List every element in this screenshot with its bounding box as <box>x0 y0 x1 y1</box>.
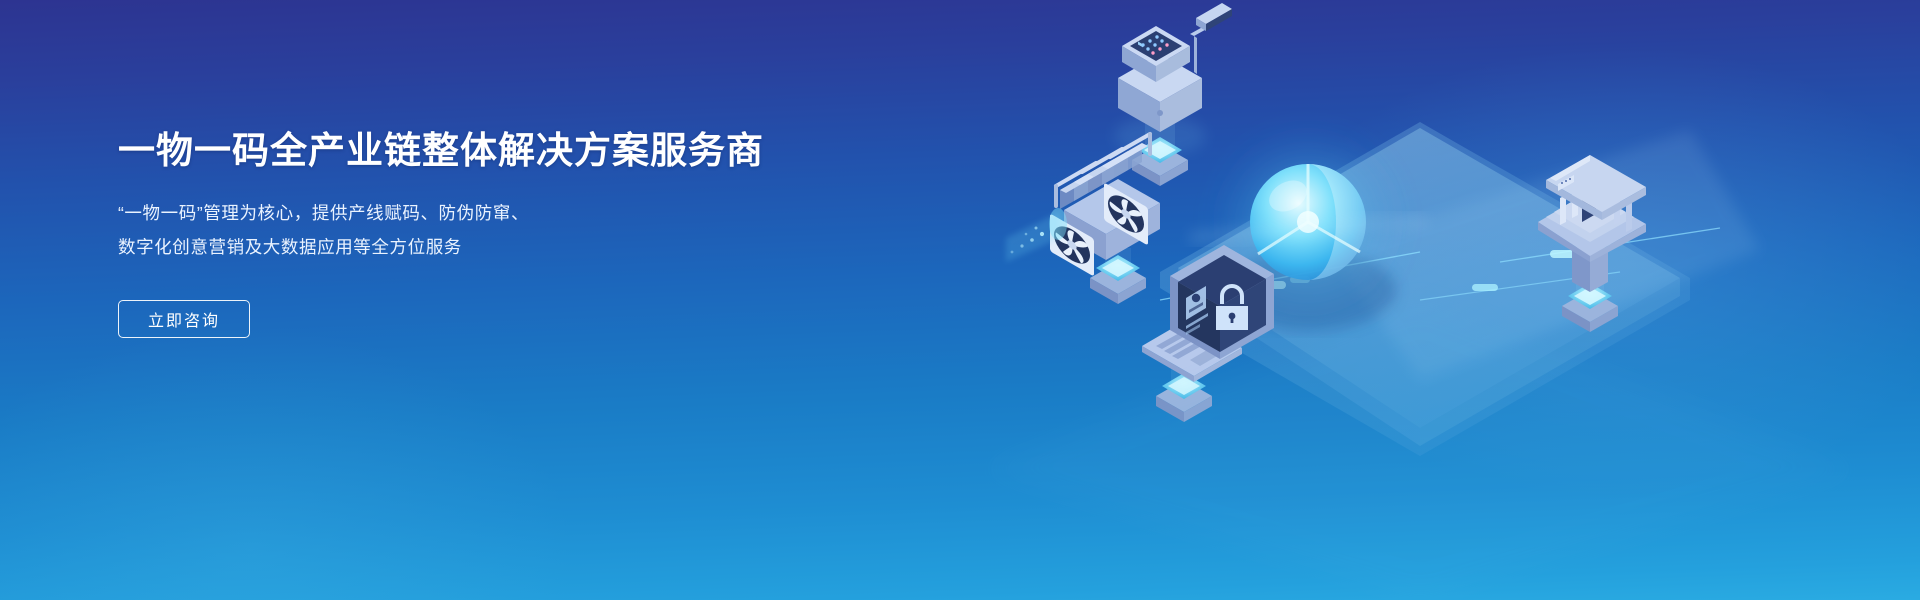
hero-illustration <box>860 0 1920 600</box>
hero-banner: 一物一码全产业链整体解决方案服务商 “一物一码”管理为核心，提供产线赋码、防伪防… <box>0 0 1920 600</box>
hero-copy: 一物一码全产业链整体解决方案服务商 “一物一码”管理为核心，提供产线赋码、防伪防… <box>118 128 758 338</box>
subtitle-line-1: “一物一码”管理为核心，提供产线赋码、防伪防窜、 <box>118 196 758 230</box>
page-title: 一物一码全产业链整体解决方案服务商 <box>118 128 758 174</box>
consult-now-button[interactable]: 立即咨询 <box>118 300 250 338</box>
subtitle-line-2: 数字化创意营销及大数据应用等全方位服务 <box>118 230 758 264</box>
server-fans-node <box>1006 134 1160 304</box>
